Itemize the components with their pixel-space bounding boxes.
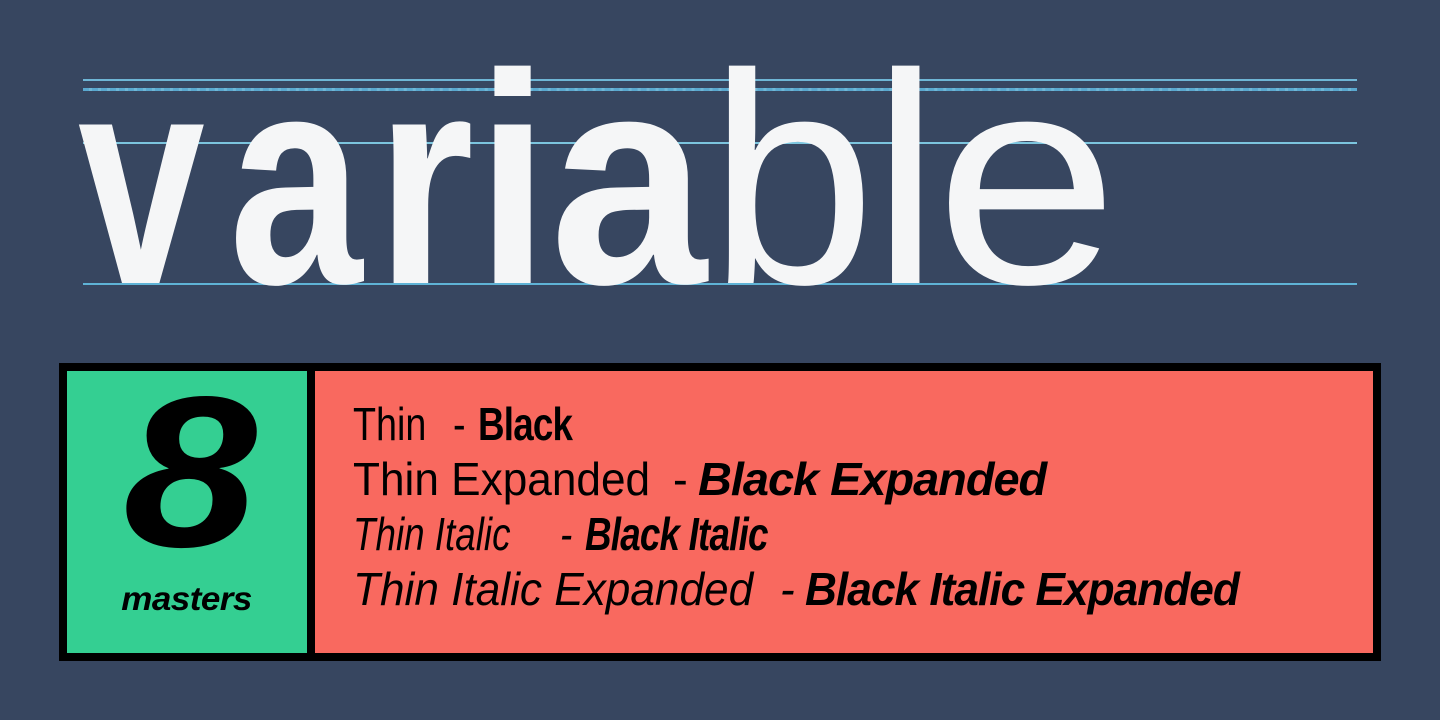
style-line-4-separator: - (780, 566, 795, 612)
style-line-2-black: Black Expanded (698, 456, 1046, 502)
style-line-2: Thin Expanded-Black Expanded (353, 456, 1373, 502)
style-line-3-separator: - (560, 511, 572, 557)
masters-count-number: 8 (123, 367, 250, 578)
masters-count-box: 8 masters (67, 371, 307, 653)
style-line-3-black: Black Italic (585, 511, 768, 557)
variable-font-specimen-poster: variable 8 masters Thin-Black Thin Expan… (0, 0, 1440, 720)
style-line-1-separator: - (453, 401, 466, 447)
styles-list-box: Thin-Black Thin Expanded-Black Expanded … (315, 371, 1373, 653)
style-line-3: Thin Italic-Black Italic (353, 511, 1373, 557)
style-line-4-thin: Thin Italic Expanded (353, 566, 753, 612)
wordmark-letter-6: b (709, 53, 871, 305)
wordmark-letter-1: v (78, 53, 197, 305)
wordmark-letter-8: e (935, 53, 1116, 305)
style-line-3-thin: Thin Italic (353, 511, 510, 557)
style-line-4-black: Black Italic Expanded (805, 566, 1239, 612)
style-line-2-thin: Thin Expanded (353, 456, 650, 502)
style-line-1-black: Black (478, 401, 572, 447)
wordmark-letter-5: a (550, 53, 701, 305)
style-line-2-separator: - (673, 456, 688, 502)
wordmark-letter-7: l (871, 53, 936, 305)
style-line-1-thin: Thin (353, 401, 426, 447)
masters-count-label: masters (122, 580, 252, 618)
wordmark-letter-4: i (476, 53, 544, 305)
style-line-4: Thin Italic Expanded-Black Italic Expand… (353, 566, 1373, 612)
wordmark-variable: variable (78, 55, 1368, 305)
masters-panel: 8 masters Thin-Black Thin Expanded-Black… (59, 363, 1381, 661)
wordmark-letter-2: a (229, 53, 354, 305)
style-line-1: Thin-Black (353, 401, 1373, 447)
wordmark-letter-3: r (376, 53, 467, 305)
